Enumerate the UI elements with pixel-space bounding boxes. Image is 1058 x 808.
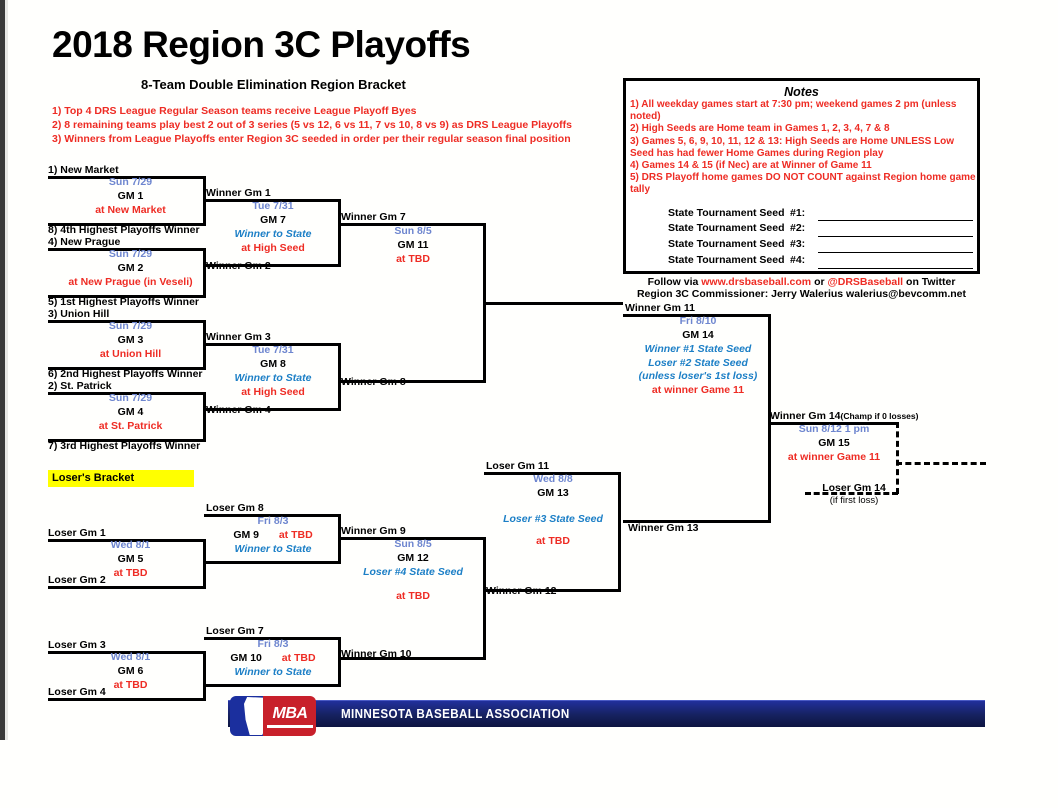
gm11-to-gm14-connector: [483, 302, 623, 305]
state-seed-input-3[interactable]: [818, 240, 973, 253]
gm1-date: Sun 7/29: [58, 176, 203, 190]
notes-line-2: 2) High Seeds are Home team in Games 1, …: [630, 123, 977, 135]
losers-bracket-label: Loser's Bracket: [48, 470, 194, 487]
seed-8-playoffs-winner: 8) 4th Highest Playoffs Winner: [48, 224, 200, 236]
winner-gm-14-slot: Winner Gm 14(Champ if 0 losses): [770, 410, 918, 422]
gm14-at: at winner Game 11: [628, 384, 768, 398]
state-seed-row-3: State Tournament Seed #3:: [668, 237, 977, 253]
gm1-at: at New Market: [58, 204, 203, 218]
gm9-date: Fri 8/3: [208, 515, 338, 529]
winner-gm-9-slot: Winner Gm 9: [341, 525, 406, 537]
seed-2-st-patrick: 2) St. Patrick: [48, 380, 112, 392]
seed-3-union-hill: 3) Union Hill: [48, 308, 109, 320]
gm15-right-line-dashed: [896, 422, 899, 494]
gm4-at: at St. Patrick: [58, 420, 203, 434]
notes-line-4: 4) Games 14 & 15 (if Nec) are at Winner …: [630, 160, 977, 172]
gm12-note: Loser #4 State Seed: [343, 566, 483, 580]
bracket-page: 2018 Region 3C Playoffs 8-Team Double El…: [0, 0, 1058, 808]
game-10-info: Fri 8/3 GM 10 at TBD Winner to State: [208, 638, 338, 680]
page-subtitle: 8-Team Double Elimination Region Bracket: [141, 78, 406, 92]
game-8-info: Tue 7/31 GM 8 Winner to State at High Se…: [208, 344, 338, 399]
gm15-champion-output-dashed: [896, 462, 986, 465]
gm8-name: GM 8: [208, 358, 338, 372]
winner-gm-13-slot: Winner Gm 13: [628, 522, 699, 534]
notes-title: Notes: [626, 85, 977, 99]
gm4-right-line: [203, 392, 206, 442]
commissioner-line: Region 3C Commissioner: Jerry Walerius w…: [626, 288, 977, 300]
gm14-note2: Loser #2 State Seed: [628, 357, 768, 371]
state-seed-number-3: #3:: [790, 237, 818, 253]
seed-4-new-prague: 4) New Prague: [48, 236, 120, 248]
state-seed-number-4: #4:: [790, 253, 818, 269]
game-13-info: Wed 8/8 GM 13 Loser #3 State Seed at TBD: [488, 473, 618, 548]
gm7-note: Winner to State: [208, 228, 338, 242]
winner-gm-14-label: Winner Gm 14: [770, 410, 841, 422]
game-9-row: GM 9 at TBD: [208, 529, 338, 543]
state-seed-label-2: State Tournament Seed: [668, 221, 790, 237]
seed-1-new-market: 1) New Market: [48, 164, 119, 176]
game-14-info: Fri 8/10 GM 14 Winner #1 State Seed Lose…: [628, 315, 768, 398]
gm6-name: GM 6: [58, 665, 203, 679]
loser-gm-3-slot: Loser Gm 3: [48, 639, 106, 651]
gm8-date: Tue 7/31: [208, 344, 338, 358]
gm3-date: Sun 7/29: [58, 320, 203, 334]
gm4-name: GM 4: [58, 406, 203, 420]
seed-6-playoffs-winner: 6) 2nd Highest Playoffs Winner: [48, 368, 203, 380]
follow-line: Follow via www.drsbaseball.com or @DRSBa…: [626, 276, 977, 288]
gm15-at: at winner Game 11: [772, 451, 896, 465]
gm13-at: at TBD: [488, 535, 618, 549]
gm10-name: GM 10: [230, 652, 262, 664]
gm12-name: GM 12: [343, 552, 483, 566]
gm6-right-line: [203, 651, 206, 701]
gm10-note: Winner to State: [208, 666, 338, 680]
state-seed-label-1: State Tournament Seed: [668, 206, 790, 222]
gm5-date: Wed 8/1: [58, 539, 203, 553]
mba-banner-text: MINNESOTA BASEBALL ASSOCIATION: [341, 707, 570, 721]
gm12-right-line: [483, 537, 486, 660]
drsbaseball-link[interactable]: www.drsbaseball.com: [701, 276, 811, 288]
state-seed-input-2[interactable]: [818, 224, 973, 237]
page-title: 2018 Region 3C Playoffs: [52, 26, 470, 65]
game-9-info: Fri 8/3 GM 9 at TBD Winner to State: [208, 515, 338, 557]
game-10-row: GM 10 at TBD: [208, 652, 338, 666]
follow-prefix: Follow via: [648, 276, 702, 288]
gm2-date: Sun 7/29: [58, 248, 203, 262]
gm3-at: at Union Hill: [58, 348, 203, 362]
loser-gm-14-slot: Loser Gm 14: [812, 482, 896, 494]
mba-logo: MBA: [230, 694, 326, 738]
gm9-at: at TBD: [279, 529, 313, 541]
gm6-bottom-line: [48, 698, 206, 701]
game-15-info: Sun 8/12 1 pm GM 15 at winner Game 11: [772, 423, 896, 465]
gm14-note3: (unless loser's 1st loss): [628, 370, 768, 384]
mba-logo-underline: [267, 725, 313, 728]
gm9-name: GM 9: [233, 529, 259, 541]
gm12-date: Sun 8/5: [343, 538, 483, 552]
game-11-info: Sun 8/5 GM 11 at TBD: [343, 225, 483, 267]
gm13-name: GM 13: [488, 487, 618, 501]
rule-line-2: 2) 8 remaining teams play best 2 out of …: [52, 120, 572, 131]
seed-7-playoffs-winner: 7) 3rd Highest Playoffs Winner: [48, 440, 200, 452]
gm13-right-line: [618, 472, 621, 592]
gm10-date: Fri 8/3: [208, 638, 338, 652]
drsbaseball-twitter-handle[interactable]: @DRSBaseball: [828, 276, 904, 288]
gm2-at: at New Prague (in Veseli): [58, 276, 203, 290]
gm1-name: GM 1: [58, 190, 203, 204]
gm8-note: Winner to State: [208, 372, 338, 386]
game-1-info: Sun 7/29 GM 1 at New Market: [58, 176, 203, 218]
winner-gm-1-slot: Winner Gm 1: [206, 187, 271, 199]
state-seed-input-4[interactable]: [818, 256, 973, 269]
winner-gm-14-note: (Champ if 0 losses): [841, 411, 919, 421]
follow-suffix: on Twitter: [903, 276, 955, 288]
gm5-bottom-line: [48, 586, 206, 589]
winner-gm-11-slot: Winner Gm 11: [625, 302, 695, 314]
game-12-info: Sun 8/5 GM 12 Loser #4 State Seed at TBD: [343, 538, 483, 603]
gm11-at: at TBD: [343, 253, 483, 267]
rule-line-3: 3) Winners from League Playoffs enter Re…: [52, 134, 571, 145]
state-seed-label-3: State Tournament Seed: [668, 237, 790, 253]
gm4-date: Sun 7/29: [58, 392, 203, 406]
state-seed-row-2: State Tournament Seed #2:: [668, 221, 977, 237]
state-seed-label-4: State Tournament Seed: [668, 253, 790, 269]
state-seed-input-1[interactable]: [818, 208, 973, 221]
loser-gm-14-note: (if first loss): [812, 495, 896, 506]
seed-5-playoffs-winner: 5) 1st Highest Playoffs Winner: [48, 296, 199, 308]
notes-line-1: 1) All weekday games start at 7:30 pm; w…: [630, 99, 977, 123]
winner-gm-4-slot: Winner Gm 4: [206, 404, 271, 416]
winner-gm-3-slot: Winner Gm 3: [206, 331, 271, 343]
loser-gm-7-slot: Loser Gm 7: [206, 625, 264, 637]
gm5-name: GM 5: [58, 553, 203, 567]
gm9-note: Winner to State: [208, 543, 338, 557]
game-2-info: Sun 7/29 GM 2 at New Prague (in Veseli): [58, 248, 203, 290]
notes-box: Notes 1) All weekday games start at 7:30…: [623, 78, 980, 274]
gm12-at: at TBD: [343, 590, 483, 604]
gm9-bottom-line: [204, 561, 341, 564]
loser-gm-2-slot: Loser Gm 2: [48, 574, 106, 586]
page-left-gutter: [5, 0, 8, 740]
gm11-date: Sun 8/5: [343, 225, 483, 239]
gm8-at: at High Seed: [208, 386, 338, 400]
gm14-name: GM 14: [628, 329, 768, 343]
rule-line-1: 1) Top 4 DRS League Regular Season teams…: [52, 106, 417, 117]
mba-banner: MINNESOTA BASEBALL ASSOCIATION: [228, 700, 985, 727]
loser-gm-4-slot: Loser Gm 4: [48, 686, 106, 698]
gm15-name: GM 15: [772, 437, 896, 451]
state-seed-number-2: #2:: [790, 221, 818, 237]
game-4-info: Sun 7/29 GM 4 at St. Patrick: [58, 392, 203, 434]
gm10-right-line: [338, 637, 341, 687]
winner-gm-7-slot: Winner Gm 7: [341, 211, 406, 223]
gm7-date: Tue 7/31: [208, 200, 338, 214]
gm5-right-line: [203, 539, 206, 589]
gm14-date: Fri 8/10: [628, 315, 768, 329]
gm2-name: GM 2: [58, 262, 203, 276]
follow-mid: or: [811, 276, 827, 288]
gm14-note: Winner #1 State Seed: [628, 343, 768, 357]
gm6-date: Wed 8/1: [58, 651, 203, 665]
gm11-name: GM 11: [343, 239, 483, 253]
gm3-name: GM 3: [58, 334, 203, 348]
gm7-right-line: [338, 199, 341, 267]
gm7-at: at High Seed: [208, 242, 338, 256]
winner-gm-8-slot: Winner Gm 8: [341, 376, 406, 388]
notes-line-3: 3) Games 5, 6, 9, 10, 11, 12 & 13: High …: [630, 136, 973, 160]
gm10-bottom-line: [204, 684, 341, 687]
loser-gm-8-slot: Loser Gm 8: [206, 502, 264, 514]
state-seed-row-1: State Tournament Seed #1:: [668, 206, 977, 222]
gm7-name: GM 7: [208, 214, 338, 228]
mba-logo-text: MBA: [266, 705, 314, 723]
gm13-date: Wed 8/8: [488, 473, 618, 487]
winner-gm-12-slot: Winner Gm 12: [486, 585, 557, 597]
gm13-note: Loser #3 State Seed: [488, 513, 618, 527]
winner-gm-10-slot: Winner Gm 10: [341, 648, 412, 660]
state-seed-number-1: #1:: [790, 206, 818, 222]
winner-gm-2-slot: Winner Gm 2: [206, 260, 271, 272]
loser-gm-11-slot: Loser Gm 11: [486, 460, 549, 472]
notes-line-5: 5) DRS Playoff home games DO NOT COUNT a…: [630, 172, 977, 196]
gm15-date: Sun 8/12 1 pm: [772, 423, 896, 437]
gm2-right-line: [203, 248, 206, 298]
state-seed-row-4: State Tournament Seed #4:: [668, 253, 977, 269]
game-3-info: Sun 7/29 GM 3 at Union Hill: [58, 320, 203, 362]
gm10-at: at TBD: [282, 652, 316, 664]
loser-gm-1-slot: Loser Gm 1: [48, 527, 106, 539]
game-7-info: Tue 7/31 GM 7 Winner to State at High Se…: [208, 200, 338, 255]
